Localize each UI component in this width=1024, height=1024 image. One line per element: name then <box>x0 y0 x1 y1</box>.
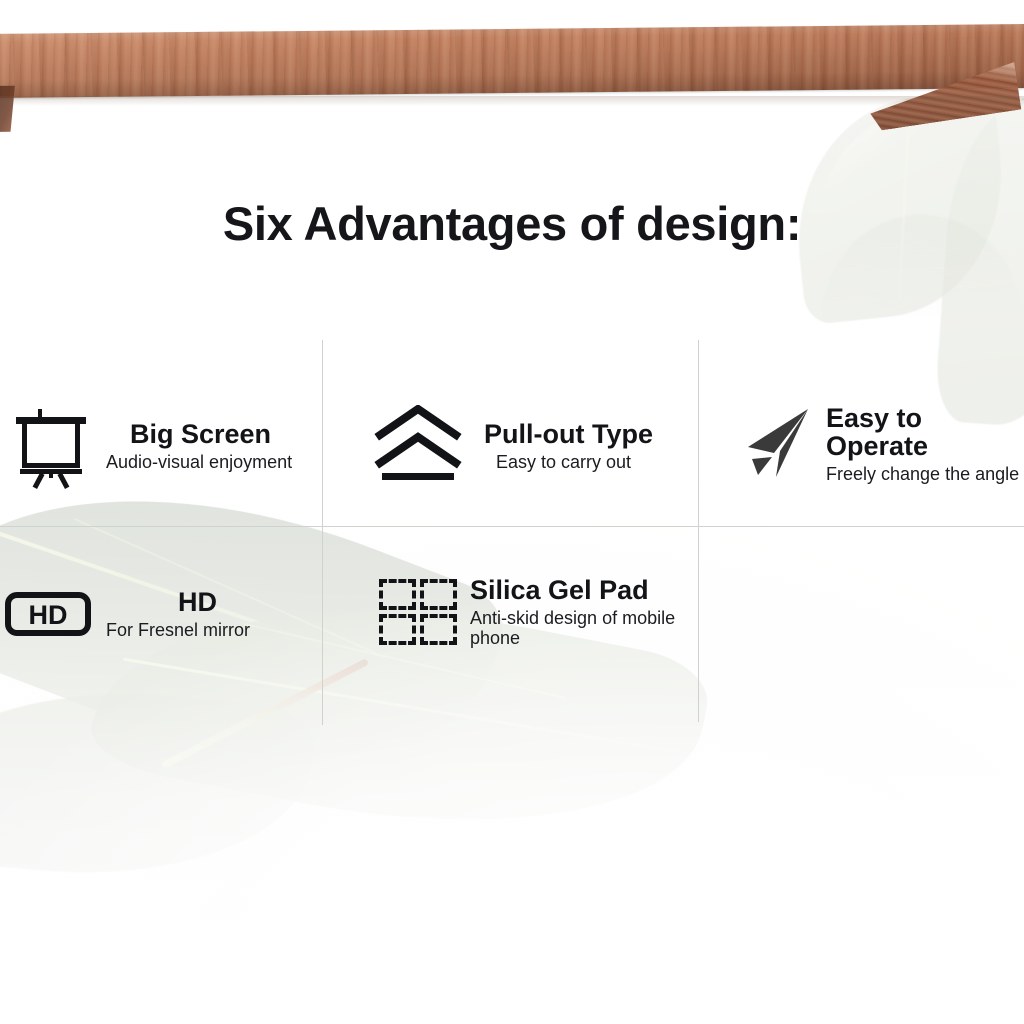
feature-subtitle: Audio-visual enjoyment <box>106 452 292 472</box>
svg-text:HD: HD <box>29 600 68 630</box>
feature-text-easy-to-operate: Easy to Operate Freely change the angle <box>826 404 1024 485</box>
feature-subtitle: Anti-skid design of mobile phone <box>470 608 702 648</box>
double-chevron-up-icon <box>372 405 464 487</box>
dashed-grid-shape <box>379 579 457 645</box>
feature-item-pull-out-type: Pull-out Type Easy to carry out <box>372 398 692 494</box>
feature-item-big-screen: Big Screen Audio-visual enjoyment <box>8 398 326 494</box>
feature-title: Big Screen <box>130 420 292 448</box>
feature-title: Easy to Operate <box>826 404 1024 461</box>
dashed-cell <box>379 579 416 610</box>
feature-subtitle: Freely change the angle <box>826 464 1024 484</box>
feature-subtitle: For Fresnel mirror <box>106 620 250 640</box>
product-feature-banner: Six Advantages of design: B <box>0 0 1024 1024</box>
projector-screen-icon <box>8 403 94 489</box>
feature-text-hd: HD For Fresnel mirror <box>102 588 250 640</box>
hd-badge-icon: HD <box>4 591 92 637</box>
feature-title: HD <box>178 588 250 616</box>
dashed-cell <box>420 579 457 610</box>
dashed-grid-icon <box>376 576 460 648</box>
paper-plane-icon <box>736 403 818 485</box>
feature-item-hd: HD HD For Fresnel mirror <box>4 576 322 652</box>
feature-title: Pull-out Type <box>484 420 653 448</box>
feature-item-easy-to-operate: Easy to Operate Freely change the angle <box>736 396 1024 492</box>
feature-text-big-screen: Big Screen Audio-visual enjoyment <box>106 420 292 473</box>
feature-text-pull-out-type: Pull-out Type Easy to carry out <box>478 420 653 473</box>
grid-divider-horizontal <box>0 526 1024 527</box>
feature-title: Silica Gel Pad <box>470 576 702 604</box>
grid-divider-vertical-right <box>698 340 699 722</box>
feature-subtitle: Easy to carry out <box>496 452 653 472</box>
content-layer: Six Advantages of design: B <box>0 0 1024 1024</box>
feature-text-silica-gel-pad: Silica Gel Pad Anti-skid design of mobil… <box>470 576 702 649</box>
dashed-cell <box>379 614 416 645</box>
feature-item-silica-gel-pad: Silica Gel Pad Anti-skid design of mobil… <box>376 566 702 658</box>
dashed-cell <box>420 614 457 645</box>
page-title: Six Advantages of design: <box>0 196 1024 251</box>
